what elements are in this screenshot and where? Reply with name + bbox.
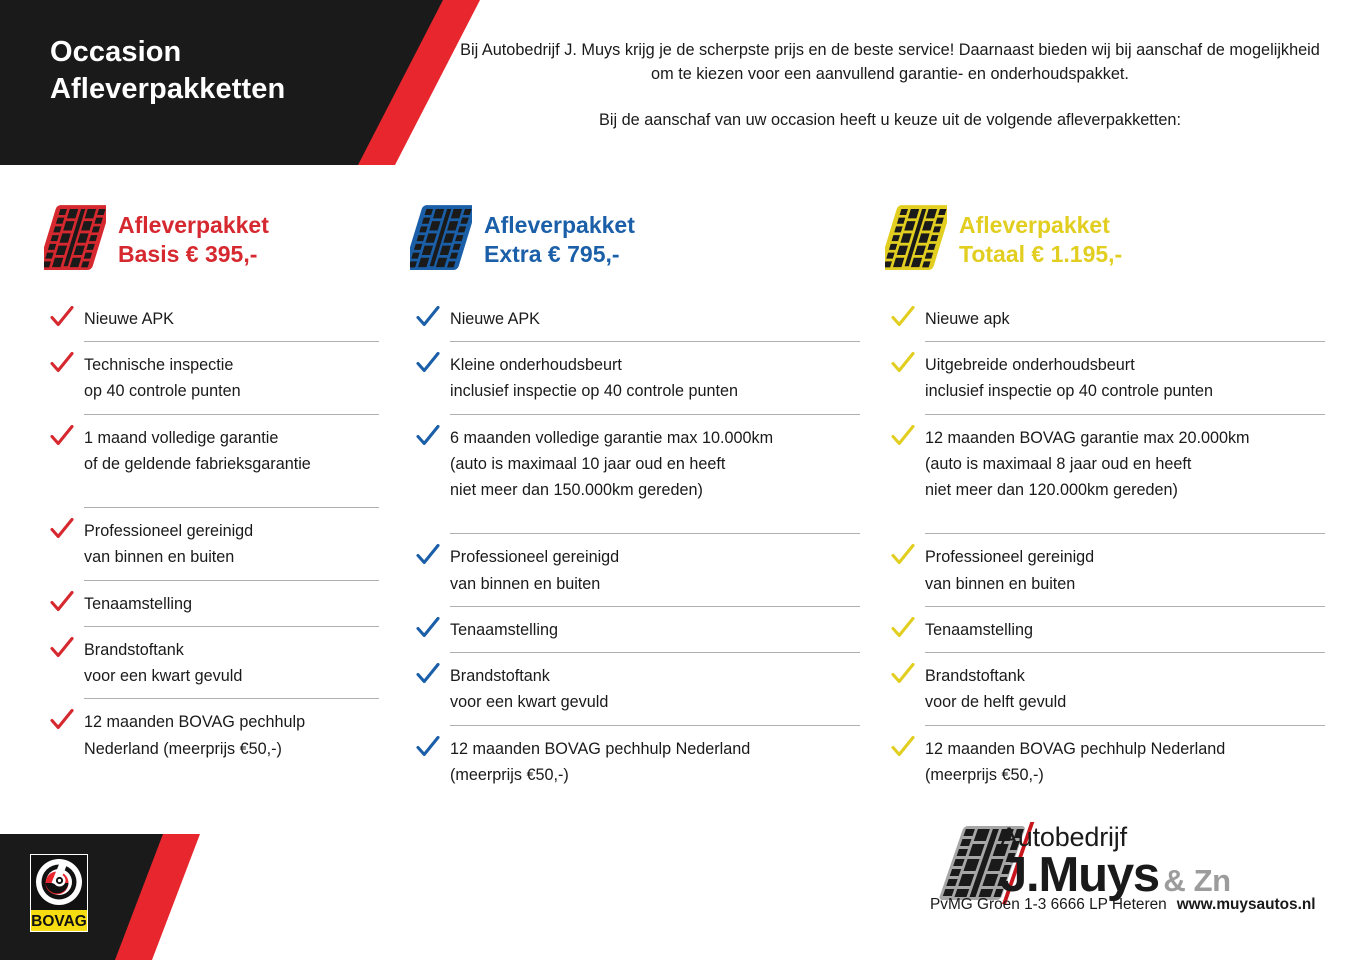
- website-link[interactable]: www.muysautos.nl: [1177, 896, 1316, 913]
- feature-text: Brandstoftank voor de helft gevuld: [925, 667, 1066, 711]
- feature-text: 12 maanden BOVAG garantie max 20.000km (…: [925, 429, 1250, 499]
- feature-item: Tenaamstelling: [885, 617, 1325, 643]
- feature-separator: [925, 725, 1325, 726]
- check-icon: [50, 709, 74, 731]
- feature-text: Kleine onderhoudsbeurt inclusief inspect…: [450, 356, 738, 400]
- package-header: Afleverpakket Totaal € 1.195,-: [885, 196, 1325, 282]
- check-icon: [416, 306, 440, 328]
- check-icon: [50, 637, 74, 659]
- feature-separator: [450, 606, 860, 607]
- feature-item: Tenaamstelling: [44, 591, 379, 617]
- feature-text: Technische inspectie op 40 controle punt…: [84, 356, 241, 400]
- feature-separator: [84, 698, 379, 699]
- package-column-extra: Afleverpakket Extra € 795,- Nieuwe APK K…: [410, 196, 860, 788]
- package-title: Afleverpakket Totaal € 1.195,-: [959, 209, 1122, 270]
- feature-item: 12 maanden BOVAG garantie max 20.000km (…: [885, 425, 1325, 504]
- feature-text: 12 maanden BOVAG pechhulp Nederland (mee…: [84, 713, 305, 757]
- brand-top-label: Autobedrijf: [1000, 824, 1231, 851]
- feature-item: Nieuwe apk: [885, 306, 1325, 332]
- package-column-basis: Afleverpakket Basis € 395,- Nieuwe APK T…: [44, 196, 379, 762]
- feature-separator: [84, 580, 379, 581]
- feature-separator: [84, 341, 379, 342]
- check-icon: [891, 617, 915, 639]
- brand-main-label: J.Muys: [1000, 848, 1159, 902]
- feature-item: Technische inspectie op 40 controle punt…: [44, 352, 379, 404]
- feature-text: Professioneel gereinigd van binnen en bu…: [925, 548, 1094, 592]
- feature-separator: [925, 341, 1325, 342]
- feature-separator: [84, 507, 379, 508]
- package-header: Afleverpakket Extra € 795,-: [410, 196, 860, 282]
- feature-text: Professioneel gereinigd van binnen en bu…: [84, 522, 253, 566]
- header-subtitle-text: Bij de aanschaf van uw occasion heeft u …: [455, 109, 1325, 132]
- feature-separator: [450, 652, 860, 653]
- feature-list: Nieuwe apk Uitgebreide onderhoudsbeurt i…: [885, 306, 1325, 788]
- feature-separator: [84, 626, 379, 627]
- check-icon: [891, 663, 915, 685]
- feature-text: Professioneel gereinigd van binnen en bu…: [450, 548, 619, 592]
- feature-separator: [450, 341, 860, 342]
- address-text: PvMG Groen 1-3 6666 LP Heteren: [930, 896, 1167, 913]
- feature-item: Brandstoftank voor een kwart gevuld: [410, 663, 860, 715]
- feature-separator: [925, 652, 1325, 653]
- check-icon: [416, 544, 440, 566]
- package-column-totaal: Afleverpakket Totaal € 1.195,- Nieuwe ap…: [885, 196, 1325, 788]
- feature-item: 6 maanden volledige garantie max 10.000k…: [410, 425, 860, 504]
- check-icon: [891, 425, 915, 447]
- check-icon: [50, 352, 74, 374]
- feature-item: Nieuwe APK: [44, 306, 379, 332]
- check-icon: [50, 306, 74, 328]
- feature-separator: [925, 414, 1325, 415]
- feature-text: Nieuwe APK: [450, 310, 540, 328]
- package-title: Afleverpakket Basis € 395,-: [118, 209, 269, 270]
- bovag-logo: BOVAG: [30, 854, 88, 932]
- bovag-emblem-icon: BOVAG: [31, 855, 87, 931]
- feature-item: 12 maanden BOVAG pechhulp Nederland (mee…: [885, 736, 1325, 788]
- feature-item: Tenaamstelling: [410, 617, 860, 643]
- feature-text: Brandstoftank voor een kwart gevuld: [84, 641, 242, 685]
- check-icon: [416, 663, 440, 685]
- check-icon: [50, 591, 74, 613]
- feature-separator: [450, 533, 860, 534]
- feature-separator: [450, 725, 860, 726]
- feature-item: Professioneel gereinigd van binnen en bu…: [410, 544, 860, 596]
- brand-main-line: J.Muys & Zn: [1000, 851, 1231, 901]
- feature-item: Professioneel gereinigd van binnen en bu…: [885, 544, 1325, 596]
- check-icon: [416, 617, 440, 639]
- check-icon: [891, 306, 915, 328]
- check-icon: [416, 352, 440, 374]
- tire-icon: [44, 202, 106, 276]
- feature-text: Tenaamstelling: [84, 595, 192, 613]
- feature-text: Nieuwe APK: [84, 310, 174, 328]
- feature-text: 1 maand volledige garantie of de geldend…: [84, 429, 311, 473]
- header-intro-text: Bij Autobedrijf J. Muys krijg je de sche…: [455, 38, 1325, 86]
- package-header: Afleverpakket Basis € 395,-: [44, 196, 379, 282]
- feature-text: Nieuwe apk: [925, 310, 1010, 328]
- feature-separator: [925, 606, 1325, 607]
- feature-item: Uitgebreide onderhoudsbeurt inclusief in…: [885, 352, 1325, 404]
- tire-icon: [410, 202, 472, 276]
- feature-separator: [84, 414, 379, 415]
- check-icon: [891, 352, 915, 374]
- check-icon: [891, 544, 915, 566]
- feature-text: 12 maanden BOVAG pechhulp Nederland (mee…: [450, 740, 750, 784]
- feature-item: Nieuwe APK: [410, 306, 860, 332]
- package-title: Afleverpakket Extra € 795,-: [484, 209, 635, 270]
- bovag-label: BOVAG: [31, 913, 87, 930]
- footer-contact: PvMG Groen 1-3 6666 LP Heterenwww.muysau…: [930, 896, 1316, 914]
- feature-item: 1 maand volledige garantie of de geldend…: [44, 425, 379, 477]
- feature-text: Tenaamstelling: [925, 621, 1033, 639]
- check-icon: [416, 425, 440, 447]
- check-icon: [891, 736, 915, 758]
- feature-separator: [925, 533, 1325, 534]
- feature-text: Tenaamstelling: [450, 621, 558, 639]
- feature-list: Nieuwe APK Technische inspectie op 40 co…: [44, 306, 379, 762]
- page-title: Occasion Afleverpakketten: [50, 34, 285, 108]
- feature-text: Uitgebreide onderhoudsbeurt inclusief in…: [925, 356, 1213, 400]
- feature-list: Nieuwe APK Kleine onderhoudsbeurt inclus…: [410, 306, 860, 788]
- check-icon: [50, 425, 74, 447]
- feature-text: 6 maanden volledige garantie max 10.000k…: [450, 429, 773, 499]
- feature-item: Professioneel gereinigd van binnen en bu…: [44, 518, 379, 570]
- tire-icon: [885, 202, 947, 276]
- check-icon: [416, 736, 440, 758]
- feature-item: Brandstoftank voor een kwart gevuld: [44, 637, 379, 689]
- feature-item: Brandstoftank voor de helft gevuld: [885, 663, 1325, 715]
- feature-item: 12 maanden BOVAG pechhulp Nederland (mee…: [44, 709, 379, 761]
- feature-text: 12 maanden BOVAG pechhulp Nederland (mee…: [925, 740, 1225, 784]
- feature-separator: [450, 414, 860, 415]
- feature-item: Kleine onderhoudsbeurt inclusief inspect…: [410, 352, 860, 404]
- brand-suffix-label: & Zn: [1163, 863, 1230, 898]
- muys-wordmark: Autobedrijf J.Muys & Zn: [1000, 824, 1231, 901]
- feature-item: 12 maanden BOVAG pechhulp Nederland (mee…: [410, 736, 860, 788]
- feature-text: Brandstoftank voor een kwart gevuld: [450, 667, 608, 711]
- check-icon: [50, 518, 74, 540]
